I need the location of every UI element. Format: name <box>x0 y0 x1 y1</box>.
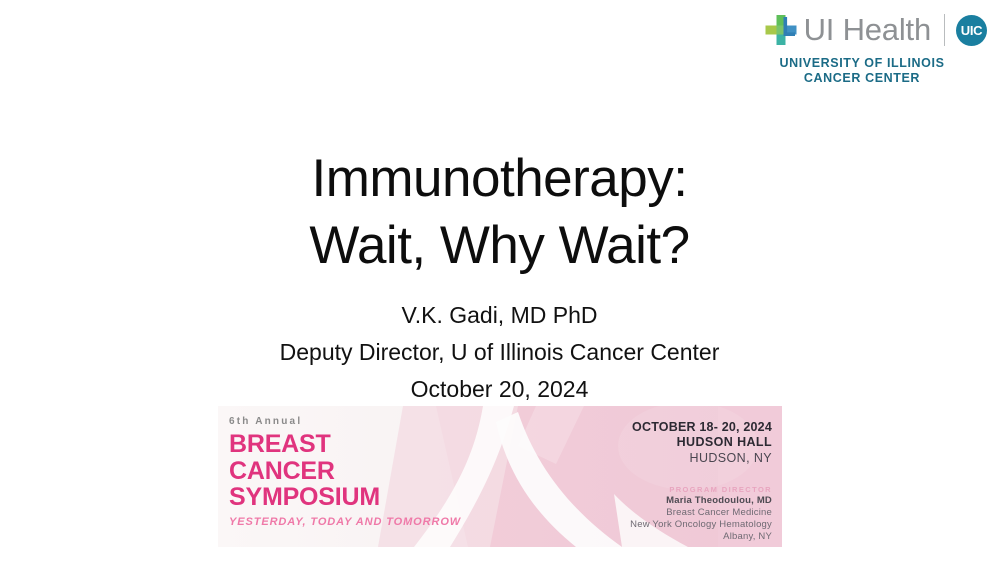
banner-left-text-block: 6th Annual BREAST CANCER SYMPOSIUM YESTE… <box>229 415 489 529</box>
banner-event-venue: HUDSON HALL <box>522 435 772 450</box>
slide-title-line-1: Immunotherapy: <box>0 145 999 212</box>
logo-subtitle: UNIVERSITY OF ILLINOIS CANCER CENTER <box>737 56 987 86</box>
banner-title-line-2: CANCER <box>229 458 489 485</box>
banner-program-director-label: PROGRAM DIRECTOR <box>522 484 772 495</box>
banner-program-director-name: Maria Theodoulou, MD <box>522 495 772 507</box>
ui-health-cancer-center-logo: UI Health UIC UNIVERSITY OF ILLINOIS CAN… <box>737 10 987 86</box>
presentation-date: October 20, 2024 <box>0 371 999 408</box>
banner-program-director-dept: Breast Cancer Medicine <box>522 507 772 519</box>
logo-subtitle-line-1: UNIVERSITY OF ILLINOIS <box>737 56 987 71</box>
ui-health-pinwheel-logo-icon <box>764 13 798 47</box>
banner-program-director-city: Albany, NY <box>522 531 772 543</box>
banner-title-line-3: SYMPOSIUM <box>229 484 489 511</box>
logo-divider <box>944 14 945 46</box>
ui-health-wordmark: UI Health <box>804 13 931 47</box>
slide-title-line-2: Wait, Why Wait? <box>0 212 999 279</box>
banner-right-info-block: OCTOBER 18- 20, 2024 HUDSON HALL HUDSON,… <box>522 420 772 543</box>
banner-program-director-block: PROGRAM DIRECTOR Maria Theodoulou, MD Br… <box>522 484 772 543</box>
banner-program-director-org: New York Oncology Hematology <box>522 519 772 531</box>
banner-title-line-1: BREAST <box>229 431 489 458</box>
logo-top-row: UI Health UIC <box>737 10 987 50</box>
banner-event-date: OCTOBER 18- 20, 2024 <box>522 420 772 435</box>
banner-tagline: YESTERDAY, TODAY AND TOMORROW <box>229 516 489 529</box>
banner-event-city: HUDSON, NY <box>522 450 772 466</box>
slide-title: Immunotherapy: Wait, Why Wait? <box>0 145 999 279</box>
uic-badge-icon: UIC <box>956 15 987 46</box>
logo-subtitle-line-2: CANCER CENTER <box>737 71 987 86</box>
presenter-name: V.K. Gadi, MD PhD <box>0 297 999 334</box>
slide-subtitle: V.K. Gadi, MD PhD Deputy Director, U of … <box>0 297 999 408</box>
banner-annual-label: 6th Annual <box>229 415 489 428</box>
presenter-affiliation: Deputy Director, U of Illinois Cancer Ce… <box>0 334 999 371</box>
breast-cancer-symposium-banner: 6th Annual BREAST CANCER SYMPOSIUM YESTE… <box>218 406 782 547</box>
banner-title: BREAST CANCER SYMPOSIUM <box>229 431 489 511</box>
uic-badge-text: UIC <box>961 24 983 37</box>
